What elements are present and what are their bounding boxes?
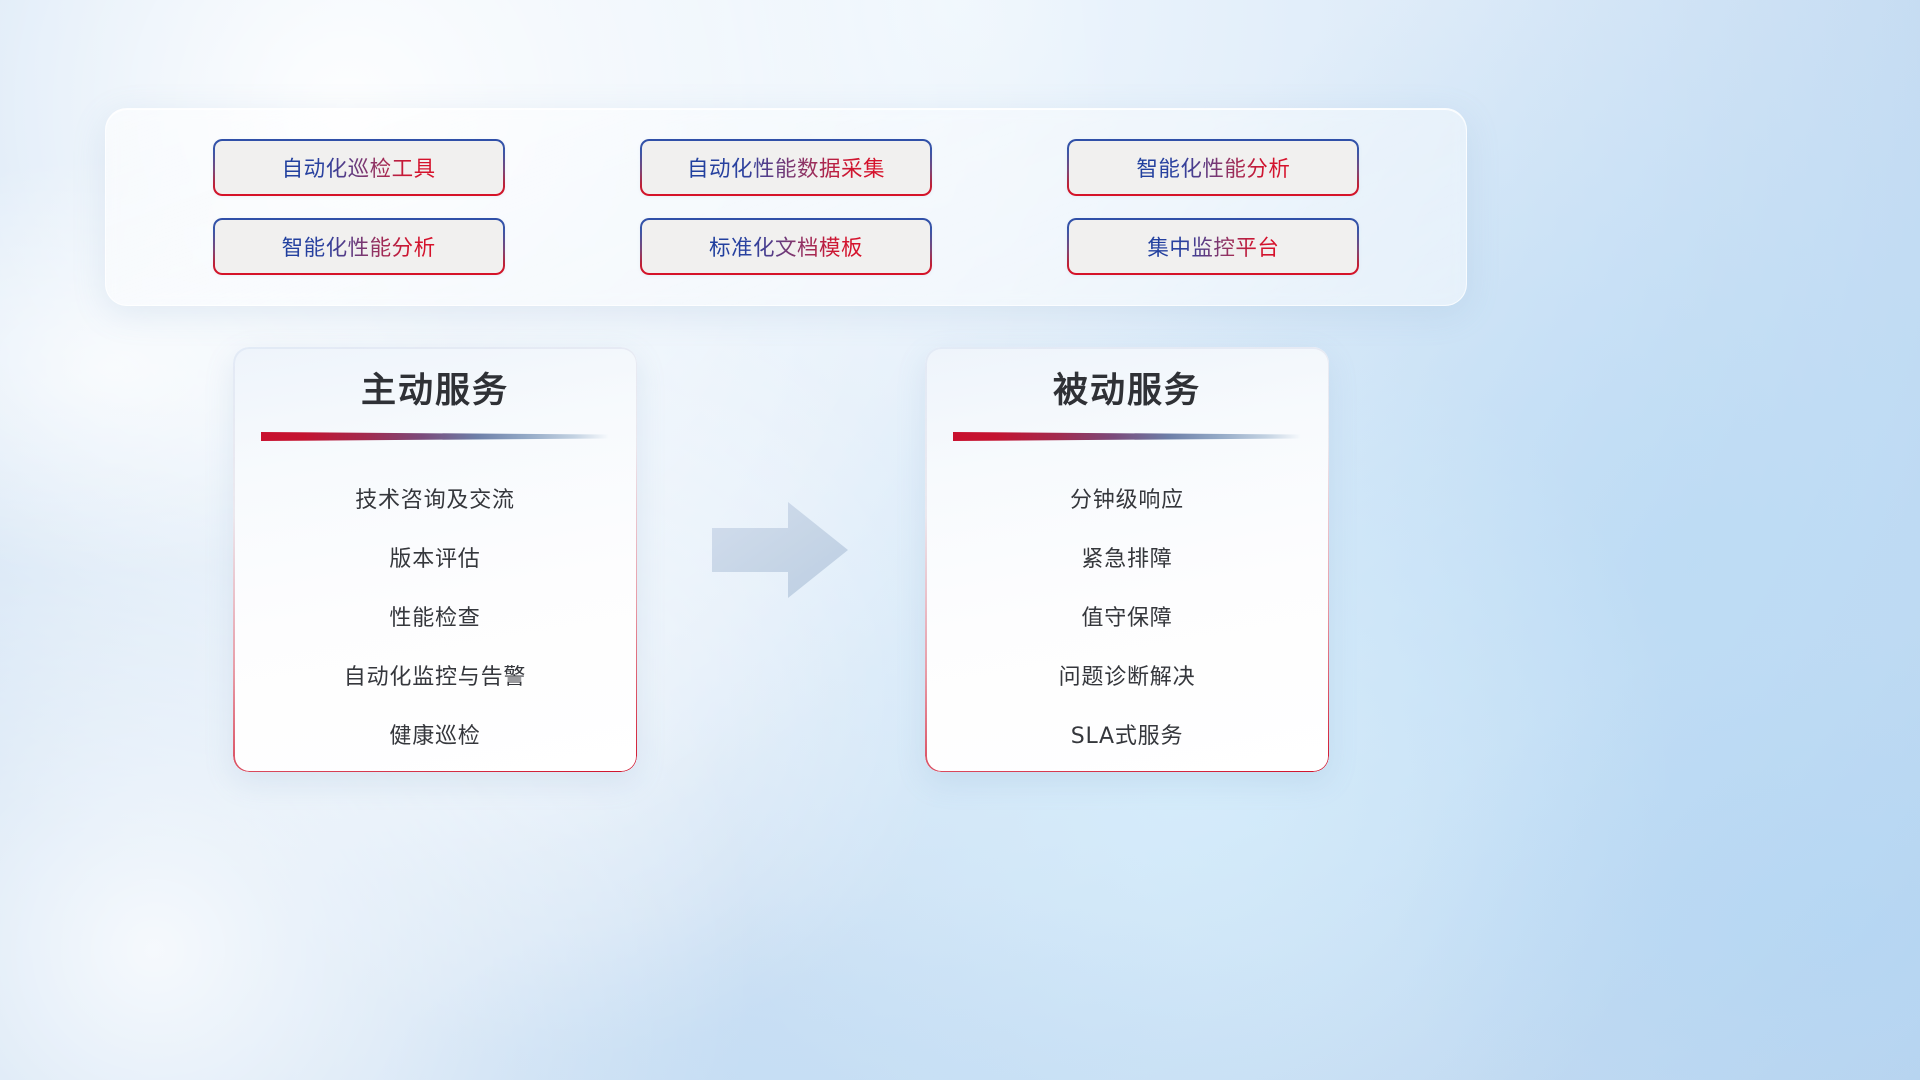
- service-list-item: 问题诊断解决: [1059, 648, 1196, 707]
- capability-chip[interactable]: 智能化性能分析: [1067, 139, 1359, 196]
- capability-chip[interactable]: 自动化性能数据采集: [640, 139, 932, 196]
- service-list-item: 紧急排障: [1081, 530, 1172, 589]
- service-list-item: 技术咨询及交流: [355, 471, 515, 530]
- service-card-title: 被动服务: [1053, 370, 1201, 412]
- capability-chip-label: 自动化巡检工具: [282, 152, 436, 183]
- capability-chip[interactable]: 标准化文档模板: [640, 218, 932, 275]
- arrow-right-icon: [708, 498, 852, 602]
- capabilities-panel: 自动化巡检工具 自动化性能数据采集 智能化性能分析 智能化性能分析 标准化文档模…: [105, 108, 1467, 306]
- capability-chip[interactable]: 智能化性能分析: [213, 218, 505, 275]
- service-card-title: 主动服务: [361, 370, 509, 412]
- capability-chip-label: 标准化文档模板: [709, 231, 863, 262]
- capability-chip-label: 自动化性能数据采集: [687, 152, 885, 183]
- service-list-item: 值守保障: [1081, 589, 1172, 648]
- capability-chip[interactable]: 自动化巡检工具: [213, 139, 505, 196]
- service-list-item: 健康巡检: [389, 707, 480, 766]
- service-card-active[interactable]: 主动服务 技术咨询及交流 版本评估 性能检查 自动化监控与告警 健康巡检: [233, 347, 637, 772]
- service-item-list: 分钟级响应 紧急排障 值守保障 问题诊断解决 SLA式服务: [925, 471, 1329, 766]
- service-card-passive[interactable]: 被动服务 分钟级响应 紧急排障 值守保障 问题诊断解决 SLA式服务: [925, 347, 1329, 772]
- service-item-list: 技术咨询及交流 版本评估 性能检查 自动化监控与告警 健康巡检: [233, 471, 637, 766]
- service-list-item: 分钟级响应: [1070, 471, 1184, 530]
- card-divider: [953, 432, 1301, 441]
- card-divider: [261, 432, 609, 441]
- service-list-item: 自动化监控与告警: [344, 648, 526, 707]
- service-list-item: 版本评估: [389, 530, 480, 589]
- service-list-item: 性能检查: [389, 589, 480, 648]
- capability-chip-label: 集中监控平台: [1147, 231, 1279, 262]
- service-list-item: SLA式服务: [1071, 707, 1184, 766]
- capability-chip-label: 智能化性能分析: [282, 231, 436, 262]
- capability-chip-label: 智能化性能分析: [1136, 152, 1290, 183]
- capability-chip[interactable]: 集中监控平台: [1067, 218, 1359, 275]
- slide-canvas: 自动化巡检工具 自动化性能数据采集 智能化性能分析 智能化性能分析 标准化文档模…: [0, 0, 1920, 1080]
